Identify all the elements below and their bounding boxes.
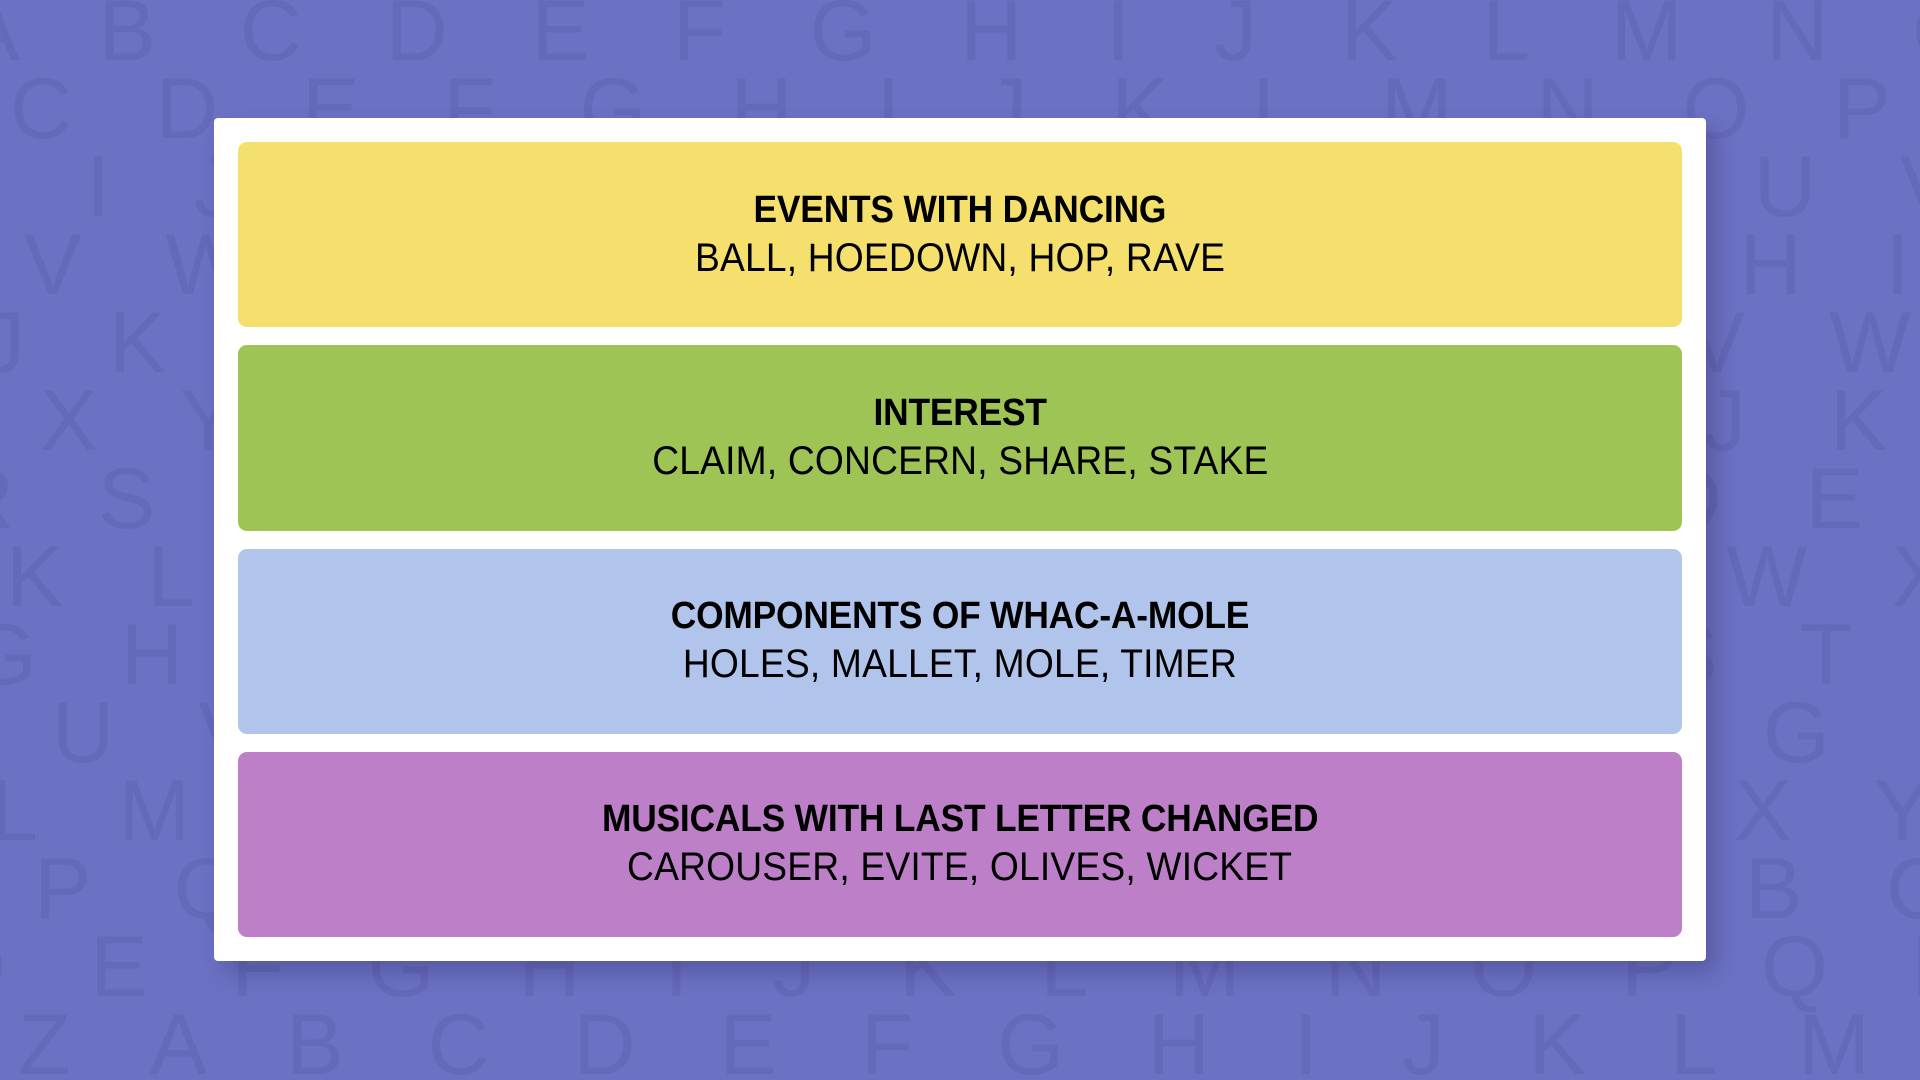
category-members: BALL, HOEDOWN, HOP, RAVE bbox=[695, 234, 1225, 282]
category-row-yellow[interactable]: EVENTS WITH DANCING BALL, HOEDOWN, HOP, … bbox=[238, 142, 1682, 327]
category-members: HOLES, MALLET, MOLE, TIMER bbox=[683, 640, 1237, 688]
category-title: EVENTS WITH DANCING bbox=[754, 188, 1167, 232]
category-members: CLAIM, CONCERN, SHARE, STAKE bbox=[652, 437, 1268, 485]
category-row-blue[interactable]: COMPONENTS OF WHAC-A-MOLE HOLES, MALLET,… bbox=[238, 549, 1682, 734]
connections-answer-card: EVENTS WITH DANCING BALL, HOEDOWN, HOP, … bbox=[214, 118, 1706, 961]
category-row-purple[interactable]: MUSICALS WITH LAST LETTER CHANGED CAROUS… bbox=[238, 752, 1682, 937]
category-members: CAROUSER, EVITE, OLIVES, WICKET bbox=[627, 843, 1292, 891]
category-title: INTEREST bbox=[873, 391, 1046, 435]
category-row-green[interactable]: INTEREST CLAIM, CONCERN, SHARE, STAKE bbox=[238, 345, 1682, 530]
category-title: MUSICALS WITH LAST LETTER CHANGED bbox=[602, 797, 1318, 841]
wallpaper-letter-row: Z A B C D E F G H I J K L M N O P Q R S … bbox=[18, 1002, 1920, 1080]
category-title: COMPONENTS OF WHAC-A-MOLE bbox=[671, 594, 1249, 638]
